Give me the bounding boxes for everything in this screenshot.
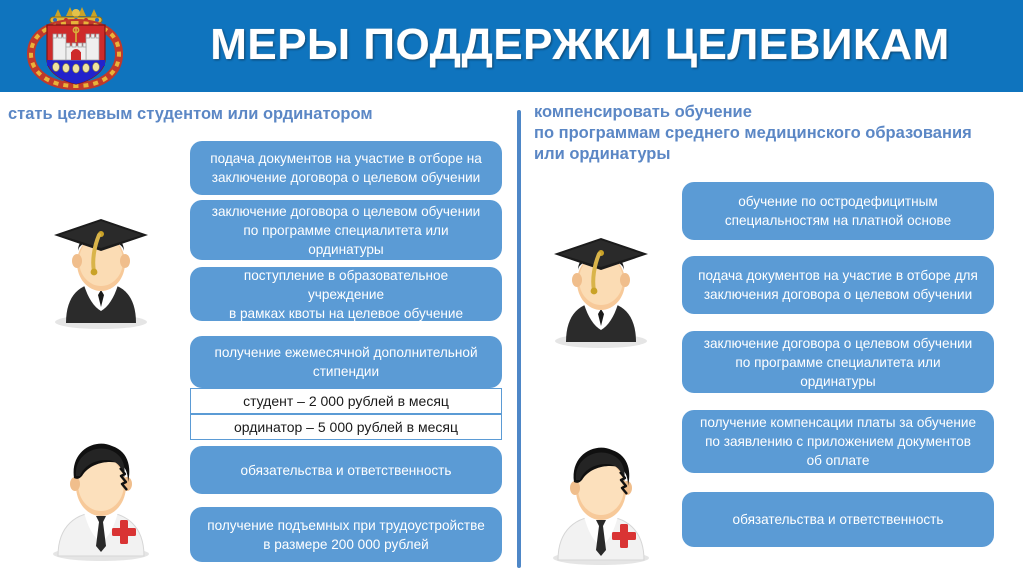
graduate-avatar	[36, 203, 166, 333]
right-box-2[interactable]: подача документов на участие в отборе дл…	[682, 256, 994, 314]
left-box-1[interactable]: подача документов на участие в отборе на…	[190, 141, 502, 195]
right-column-heading: компенсировать обучение по программам ср…	[534, 102, 1014, 165]
left-box-2[interactable]: заключение договора о целевом обучении п…	[190, 200, 502, 260]
right-box-3[interactable]: заключение договора о целевом обучении п…	[682, 331, 994, 393]
right-box-obligations[interactable]: обязательства и ответственность	[682, 492, 994, 547]
left-column-heading: стать целевым студентом или ординатором	[8, 104, 508, 125]
graduate-avatar	[536, 222, 666, 352]
page-title: МЕРЫ ПОДДЕРЖКИ ЦЕЛЕВИКАМ	[160, 14, 1000, 76]
doctor-avatar	[536, 428, 666, 568]
header-banner: МЕРЫ ПОДДЕРЖКИ ЦЕЛЕВИКАМ	[0, 0, 1023, 92]
right-box-1[interactable]: обучение по остродефицитным специальност…	[682, 182, 994, 240]
left-box-obligations[interactable]: обязательства и ответственность	[190, 446, 502, 494]
left-box-3[interactable]: поступление в образовательное учреждение…	[190, 267, 502, 321]
coat-of-arms-icon	[14, 4, 132, 90]
right-box-4[interactable]: получение компенсации платы за обучение …	[682, 410, 994, 473]
left-box-4[interactable]: получение ежемесячной дополнительной сти…	[190, 336, 502, 388]
left-box-relocation-payment[interactable]: получение подъемных при трудоустройстве …	[190, 507, 502, 562]
column-divider	[517, 110, 521, 568]
slide-root: МЕРЫ ПОДДЕРЖКИ ЦЕЛЕВИКАМ стать целевым с…	[0, 0, 1023, 575]
doctor-avatar	[36, 424, 166, 564]
left-box-student-stipend[interactable]: студент – 2 000 рублей в месяц	[190, 388, 502, 414]
left-box-resident-stipend[interactable]: ординатор – 5 000 рублей в месяц	[190, 414, 502, 440]
